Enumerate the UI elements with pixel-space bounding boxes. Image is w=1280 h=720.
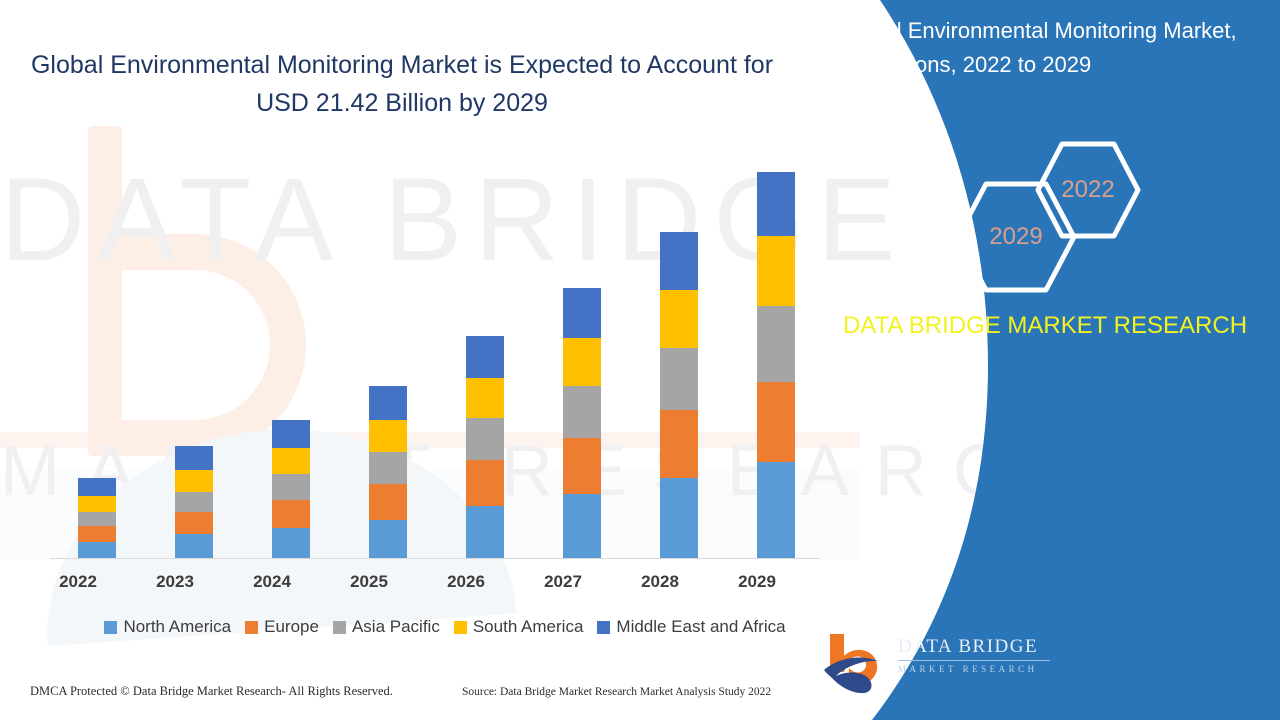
right-panel: Global Environmental Monitoring Market, … [810, 0, 1280, 720]
bar-segment [757, 172, 795, 236]
bar-2027 [563, 288, 601, 558]
dbmr-mark-icon [820, 630, 892, 694]
panel-background-shape [810, 0, 1280, 720]
x-axis-label-2023: 2023 [135, 572, 215, 592]
legend-swatch-icon [245, 621, 258, 634]
legend-item[interactable]: South America [454, 617, 584, 637]
bar-segment [78, 496, 116, 512]
x-axis-label-2028: 2028 [620, 572, 700, 592]
panel-title: Global Environmental Monitoring Market, … [838, 14, 1248, 82]
legend-label: North America [123, 617, 231, 637]
dbmr-logo-main: DATA BRIDGE [898, 636, 1068, 658]
bar-segment [660, 410, 698, 478]
x-axis-label-2025: 2025 [329, 572, 409, 592]
bar-segment [660, 290, 698, 348]
bar-segment [563, 386, 601, 438]
bar-segment [272, 528, 310, 558]
bar-segment [563, 338, 601, 386]
legend-item[interactable]: Europe [245, 617, 319, 637]
bar-segment [757, 236, 795, 306]
bar-segment [175, 492, 213, 512]
legend-label: Europe [264, 617, 319, 637]
bar-segment [757, 306, 795, 382]
bar-2022 [78, 478, 116, 558]
legend-swatch-icon [454, 621, 467, 634]
x-axis-label-2027: 2027 [523, 572, 603, 592]
bar-segment [369, 484, 407, 520]
x-axis-line [50, 558, 820, 559]
x-axis-labels: 20222023202420252026202720282029 [50, 572, 820, 598]
x-axis-label-2022: 2022 [38, 572, 118, 592]
bar-segment [175, 446, 213, 470]
bar-segment [466, 336, 504, 378]
bar-2024 [272, 420, 310, 558]
legend-item[interactable]: Middle East and Africa [597, 617, 785, 637]
x-axis-label-2026: 2026 [426, 572, 506, 592]
legend-label: Middle East and Africa [616, 617, 785, 637]
bar-segment [369, 452, 407, 484]
bar-segment [272, 420, 310, 448]
infographic-page: DATA BRIDGE MARKET RESEARCH Global Envir… [0, 0, 1280, 720]
bar-segment [369, 386, 407, 420]
bar-2025 [369, 386, 407, 558]
x-axis-label-2024: 2024 [232, 572, 312, 592]
legend-item[interactable]: Asia Pacific [333, 617, 440, 637]
page-title: Global Environmental Monitoring Market i… [22, 46, 782, 122]
chart-legend: North AmericaEuropeAsia PacificSouth Ame… [50, 617, 840, 637]
bar-segment [660, 348, 698, 410]
hexagon-end-label: 2029 [989, 223, 1042, 251]
bar-segment [466, 506, 504, 558]
legend-swatch-icon [333, 621, 346, 634]
bar-segment [563, 438, 601, 494]
bar-segment [563, 494, 601, 558]
bar-2023 [175, 446, 213, 558]
dbmr-logo-sub: MARKET RESEARCH [898, 664, 1068, 674]
bar-segment [272, 448, 310, 474]
bar-segment [175, 534, 213, 558]
hexagon-badge-end: 2029 [952, 178, 1080, 296]
footer-source: Source: Data Bridge Market Research Mark… [462, 686, 771, 698]
dbmr-logo-text: DATA BRIDGE MARKET RESEARCH [898, 636, 1068, 674]
bar-segment [272, 500, 310, 528]
stacked-bar-chart [50, 150, 820, 560]
bar-segment [757, 382, 795, 462]
legend-swatch-icon [104, 621, 117, 634]
legend-label: Asia Pacific [352, 617, 440, 637]
bar-segment [78, 512, 116, 526]
dbmr-logo-rule [898, 660, 1050, 661]
bar-segment [660, 232, 698, 290]
bar-segment [466, 378, 504, 418]
brand-name: DATA BRIDGE MARKET RESEARCH [830, 308, 1260, 344]
data-bridge-logo: DATA BRIDGE MARKET RESEARCH [820, 630, 1070, 702]
bar-segment [78, 478, 116, 496]
bar-2029 [757, 172, 795, 558]
bar-segment [175, 512, 213, 534]
bar-segment [466, 460, 504, 506]
footer-copyright: DMCA Protected © Data Bridge Market Rese… [30, 684, 393, 699]
bar-segment [175, 470, 213, 492]
bar-segment [78, 526, 116, 542]
bar-2028 [660, 232, 698, 558]
legend-item[interactable]: North America [104, 617, 231, 637]
year-hexagons: 2022 2029 [810, 130, 1280, 300]
bar-segment [757, 462, 795, 558]
bar-segment [660, 478, 698, 558]
bar-segment [78, 542, 116, 558]
bar-segment [369, 520, 407, 558]
bar-2026 [466, 336, 504, 558]
bar-segment [369, 420, 407, 452]
bar-segment [563, 288, 601, 338]
x-axis-label-2029: 2029 [717, 572, 797, 592]
legend-swatch-icon [597, 621, 610, 634]
legend-label: South America [473, 617, 584, 637]
bar-segment [466, 418, 504, 460]
bar-segment [272, 474, 310, 500]
